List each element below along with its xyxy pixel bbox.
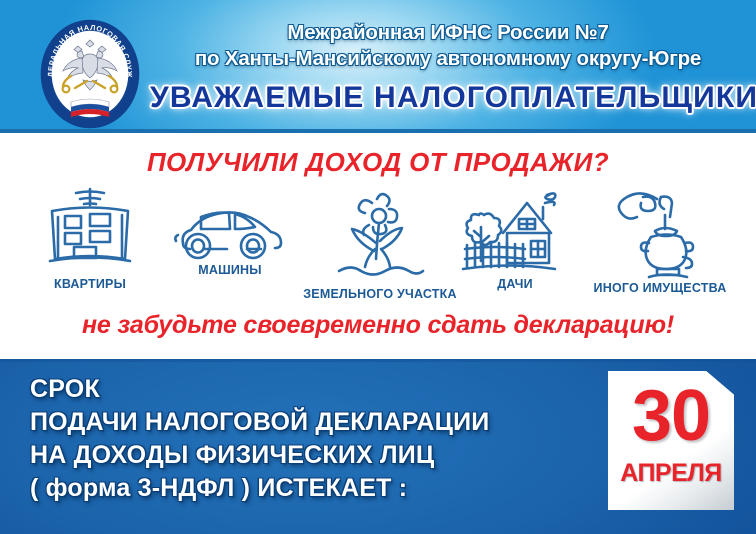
cottage-icon [457, 187, 573, 277]
deadline-line-3: НА ДОХОДЫ ФИЗИЧЕСКИХ ЛИЦ [30, 439, 610, 472]
federal-tax-service-emblem-icon: ФЕДЕРАЛЬНАЯ НАЛОГОВАЯ СЛУЖБА [35, 18, 145, 130]
property-label-flats: КВАРТИРЫ [10, 277, 170, 291]
tax-notice-poster: ФЕДЕРАЛЬНАЯ НАЛОГОВАЯ СЛУЖБА [0, 0, 756, 534]
header-text-block: Межрайонная ИФНС России №7 по Ханты-Манс… [150, 20, 746, 115]
property-item-other: ИНОГО ИМУЩЕСТВА [565, 187, 755, 295]
org-line-1: Межрайонная ИФНС России №7 [150, 20, 746, 46]
deadline-date-badge: 30 АПРЕЛЯ [608, 371, 734, 510]
apartment-building-icon [36, 183, 144, 275]
poster-header: ФЕДЕРАЛЬНАЯ НАЛОГОВАЯ СЛУЖБА [0, 0, 756, 133]
deadline-month: АПРЕЛЯ [608, 459, 734, 487]
salutation: УВАЖАЕМЫЕ НАЛОГОПЛАТЕЛЬЩИКИ! [150, 81, 746, 115]
deadline-day: 30 [608, 377, 734, 455]
poster-middle-panel: ПОЛУЧИЛИ ДОХОД ОТ ПРОДАЖИ? [0, 133, 756, 359]
org-line-2: по Ханты-Мансийскому автономному округу-… [150, 46, 746, 72]
deadline-line-2: ПОДАЧИ НАЛОГОВОЙ ДЕКЛАРАЦИИ [30, 406, 610, 439]
property-item-flats: КВАРТИРЫ [10, 183, 170, 291]
property-icons-row: КВАРТИРЫ [0, 181, 756, 311]
property-label-other: ИНОГО ИМУЩЕСТВА [565, 281, 755, 295]
call-to-action: не забудьте своевременно сдать деклараци… [0, 311, 756, 340]
question-title: ПОЛУЧИЛИ ДОХОД ОТ ПРОДАЖИ? [0, 147, 756, 178]
flower-plot-icon [325, 189, 435, 285]
property-item-dacha: ДАЧИ [450, 187, 580, 291]
deadline-text-block: СРОК ПОДАЧИ НАЛОГОВОЙ ДЕКЛАРАЦИИ НА ДОХО… [30, 373, 610, 505]
samovar-icon [599, 187, 721, 279]
deadline-line-1: СРОК [30, 373, 610, 406]
deadline-line-4: ( форма 3-НДФЛ ) ИСТЕКАЕТ : [30, 472, 610, 505]
property-label-dacha: ДАЧИ [450, 277, 580, 291]
